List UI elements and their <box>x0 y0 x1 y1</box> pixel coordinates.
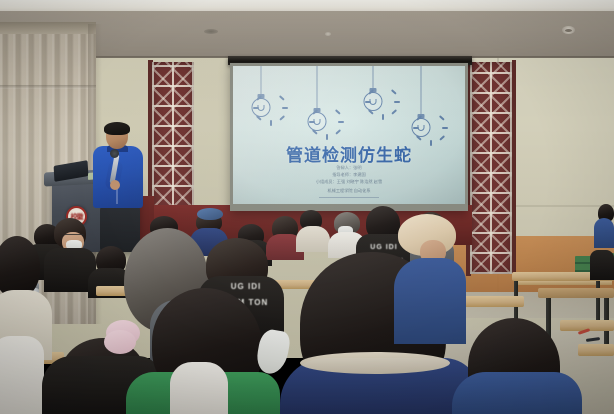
ceiling-speaker-icon <box>562 26 575 34</box>
jacket-graphic-text: UG IDI <box>216 282 276 292</box>
slide-subtitle-line-4: 机械工程学院 自动化系 <box>233 188 465 194</box>
presenter-legs <box>100 206 140 252</box>
microphone-head-icon <box>110 149 119 158</box>
presenter-hand <box>110 180 120 190</box>
student-torso <box>594 218 614 248</box>
jacket-fur-collar <box>300 352 450 374</box>
ceiling-sensor-icon <box>325 32 331 36</box>
slide-subtitle-line-2: 指导老师：李建国 <box>233 172 465 178</box>
student-torso <box>590 250 614 280</box>
curtain-seam <box>0 85 96 89</box>
slide-divider-rule <box>319 197 379 198</box>
wooden-student-desk <box>578 344 614 356</box>
student-torso-white-panel <box>170 362 228 414</box>
curtain-track <box>0 22 96 34</box>
ceiling-light-fixture <box>204 29 218 34</box>
slide-subtitle-line-1: 答辩人：张明 <box>233 165 465 171</box>
slide-title: 管道检测仿生蛇 <box>233 141 465 166</box>
student-foreground-left <box>0 236 40 298</box>
classroom-presentation-photo: 管道检测仿生蛇 答辩人：张明 指导老师：李建国 小组成员：王强 刘晓宇 陈浩然 … <box>0 0 614 414</box>
wooden-student-desk <box>538 288 614 298</box>
slide-subtitle-line-3: 小组成员：王强 刘晓宇 陈浩然 赵雪 <box>233 179 465 185</box>
hair-scrunchie <box>104 330 136 354</box>
student-torso <box>296 226 330 252</box>
decorative-lattice-panel-right <box>470 62 512 274</box>
lattice-frame-right-outer <box>512 60 516 276</box>
presenter-hair <box>104 122 130 135</box>
cap-icon <box>197 208 223 220</box>
projection-screen: 管道检测仿生蛇 答辩人：张明 指导老师：李建国 小组成员：王强 刘晓宇 陈浩然 … <box>233 66 465 204</box>
student-torso <box>394 258 466 344</box>
student-torso <box>0 336 44 414</box>
eyeglasses-icon <box>64 234 84 239</box>
student-torso <box>452 372 582 414</box>
